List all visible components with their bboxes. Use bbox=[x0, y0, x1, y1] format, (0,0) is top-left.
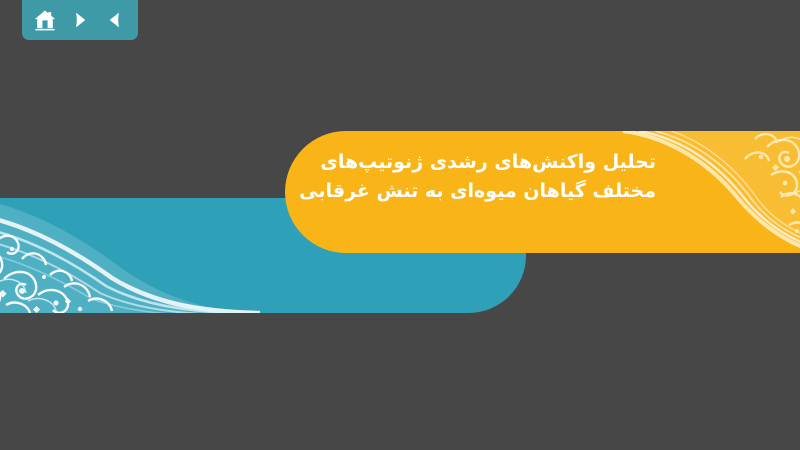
arabesque-ornament-bottom-left bbox=[0, 198, 260, 313]
home-button[interactable] bbox=[31, 6, 59, 34]
presentation-slide: تحلیل واکنش‌های رشدی ژنوتیپ‌های مختلف گی… bbox=[0, 0, 800, 450]
triangle-right-icon bbox=[70, 10, 90, 30]
home-icon bbox=[33, 9, 57, 32]
previous-slide-button[interactable] bbox=[101, 6, 129, 34]
next-slide-button[interactable] bbox=[66, 6, 94, 34]
navigation-toolbar bbox=[22, 0, 138, 40]
slide-title: تحلیل واکنش‌های رشدی ژنوتیپ‌های مختلف گی… bbox=[300, 148, 656, 207]
slide-title-line-1: تحلیل واکنش‌های رشدی ژنوتیپ‌های bbox=[300, 148, 656, 177]
triangle-left-icon bbox=[105, 10, 125, 30]
slide-title-line-2: مختلف گیاهان میوه‌ای به تنش غرقابی bbox=[300, 177, 656, 206]
